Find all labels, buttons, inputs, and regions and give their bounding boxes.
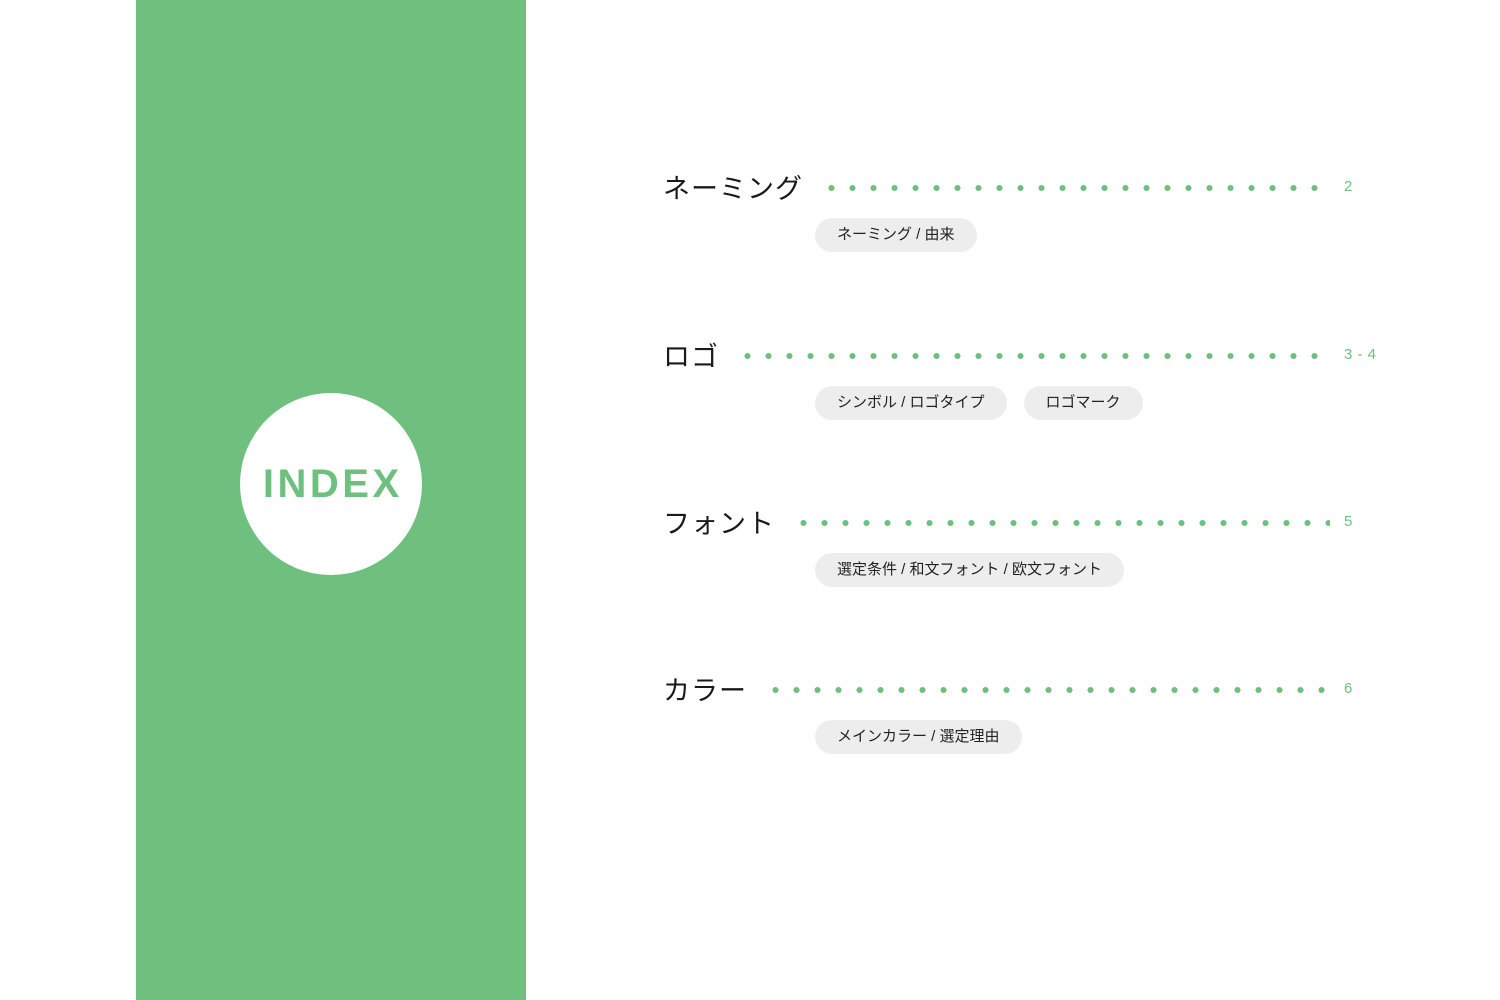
toc-entry[interactable]: ロゴ 3 - 4 シンボル / ロゴタイプ ロゴマーク [663,334,1400,420]
toc-entry[interactable]: カラー 6 メインカラー / 選定理由 [663,668,1400,754]
toc-page-number: 2 [1344,178,1400,195]
toc-tag: ロゴマーク [1024,386,1143,420]
slide-page: INDEX ネーミング 2 ネーミング / 由来 ロゴ 3 - 4 シンボル /… [0,0,1500,1000]
toc-entry-row: フォント 5 [663,501,1400,541]
toc-entry[interactable]: ネーミング 2 ネーミング / 由来 [663,166,1400,252]
dotted-leader [793,520,1330,526]
toc-entry[interactable]: フォント 5 選定条件 / 和文フォント / 欧文フォント [663,501,1400,587]
dotted-leader [765,687,1330,693]
toc-entry-tags: メインカラー / 選定理由 [815,720,1400,754]
dotted-leader [821,185,1330,191]
toc-entry-row: ネーミング 2 [663,166,1400,206]
toc-tag: メインカラー / 選定理由 [815,720,1022,754]
toc-entry-tags: シンボル / ロゴタイプ ロゴマーク [815,386,1400,420]
index-badge-label: INDEX [259,464,402,504]
toc-tag: 選定条件 / 和文フォント / 欧文フォント [815,553,1124,587]
toc-page-number: 3 - 4 [1344,346,1400,363]
dotted-leader [737,353,1330,359]
toc-entry-title: ロゴ [663,335,719,374]
toc-tag: ネーミング / 由来 [815,218,977,252]
toc-entry-title: フォント [663,502,775,541]
toc-entry-tags: ネーミング / 由来 [815,218,1400,252]
index-badge: INDEX [240,393,422,575]
toc-page-number: 5 [1344,513,1400,530]
sidebar-panel: INDEX [136,0,526,1000]
toc-entry-title: ネーミング [663,167,803,206]
toc-entry-tags: 選定条件 / 和文フォント / 欧文フォント [815,553,1400,587]
toc-entry-row: ロゴ 3 - 4 [663,334,1400,374]
toc-page-number: 6 [1344,680,1400,697]
toc-entry-title: カラー [663,669,747,708]
toc-tag: シンボル / ロゴタイプ [815,386,1007,420]
table-of-contents: ネーミング 2 ネーミング / 由来 ロゴ 3 - 4 シンボル / ロゴタイプ… [663,0,1423,1000]
toc-entry-row: カラー 6 [663,668,1400,708]
